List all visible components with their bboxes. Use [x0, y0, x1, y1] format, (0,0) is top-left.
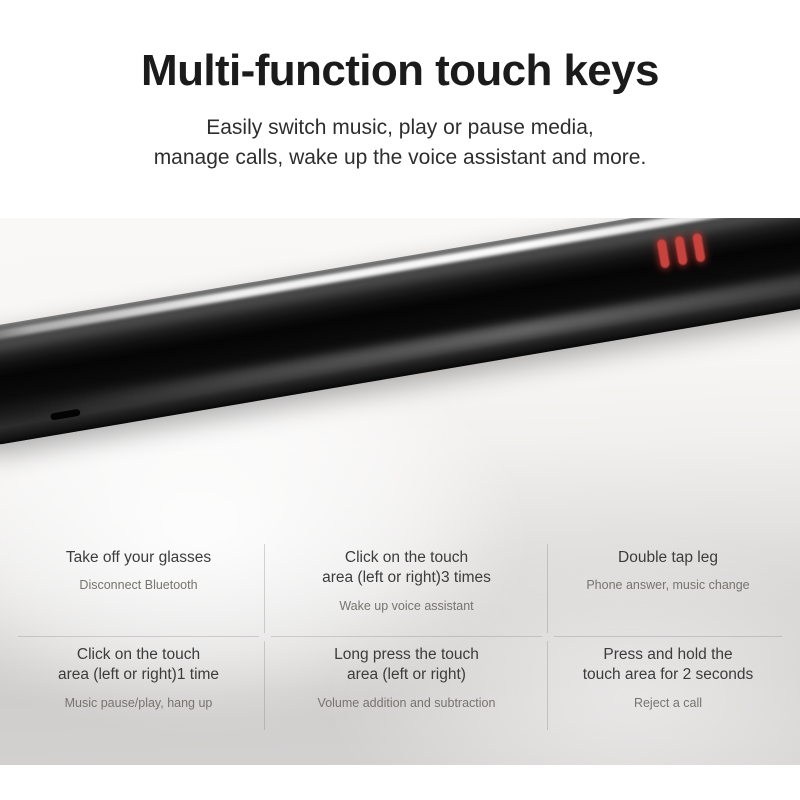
feature-grid: Take off your glasses Disconnect Bluetoo… [12, 540, 788, 748]
feature-subtitle: Phone answer, music change [586, 577, 749, 593]
feature-title-line-1: Click on the touch [322, 548, 491, 568]
page-subtitle: Easily switch music, play or pause media… [0, 97, 800, 174]
feature-cell-single-click: Click on the touch area (left or right)1… [12, 637, 265, 734]
feature-title-line-2: area (left or right)1 time [58, 665, 219, 685]
feature-title: Take off your glasses [66, 548, 211, 568]
feature-title-line-1: Press and hold the [583, 645, 754, 665]
header-section: Multi-function touch keys Easily switch … [0, 0, 800, 218]
feature-cell-triple-click: Click on the touch area (left or right)3… [265, 540, 548, 637]
feature-subtitle: Music pause/play, hang up [65, 695, 213, 711]
footer-spacer [0, 765, 800, 800]
feature-title: Press and hold the touch area for 2 seco… [583, 645, 754, 686]
feature-title: Click on the touch area (left or right)1… [58, 645, 219, 686]
product-photo: Take off your glasses Disconnect Bluetoo… [0, 218, 800, 765]
feature-cell-take-off-glasses: Take off your glasses Disconnect Bluetoo… [12, 540, 265, 637]
product-feature-page: Multi-function touch keys Easily switch … [0, 0, 800, 800]
feature-title-line-1: Double tap leg [618, 548, 718, 568]
feature-title-line-1: Long press the touch [334, 645, 479, 665]
led-indicator-1 [657, 239, 671, 269]
feature-title-line-2: area (left or right) [334, 665, 479, 685]
feature-subtitle: Volume addition and subtraction [318, 695, 496, 711]
feature-title-line-1: Take off your glasses [66, 548, 211, 568]
feature-title: Click on the touch area (left or right)3… [322, 548, 491, 589]
feature-title-line-2: touch area for 2 seconds [583, 665, 754, 685]
page-title: Multi-function touch keys [0, 0, 800, 97]
feature-title: Double tap leg [618, 548, 718, 568]
feature-title-line-2: area (left or right)3 times [322, 568, 491, 588]
feature-subtitle: Disconnect Bluetooth [79, 577, 197, 593]
feature-title: Long press the touch area (left or right… [334, 645, 479, 686]
feature-cell-press-hold-2s: Press and hold the touch area for 2 seco… [548, 637, 788, 734]
feature-cell-long-press: Long press the touch area (left or right… [265, 637, 548, 734]
feature-subtitle: Wake up voice assistant [339, 598, 473, 614]
feature-title-line-1: Click on the touch [58, 645, 219, 665]
led-indicator-group [657, 233, 706, 269]
subtitle-line-2: manage calls, wake up the voice assistan… [0, 143, 800, 173]
led-indicator-2 [674, 236, 688, 266]
subtitle-line-1: Easily switch music, play or pause media… [0, 113, 800, 143]
feature-subtitle: Reject a call [634, 695, 702, 711]
feature-cell-double-tap-leg: Double tap leg Phone answer, music chang… [548, 540, 788, 637]
